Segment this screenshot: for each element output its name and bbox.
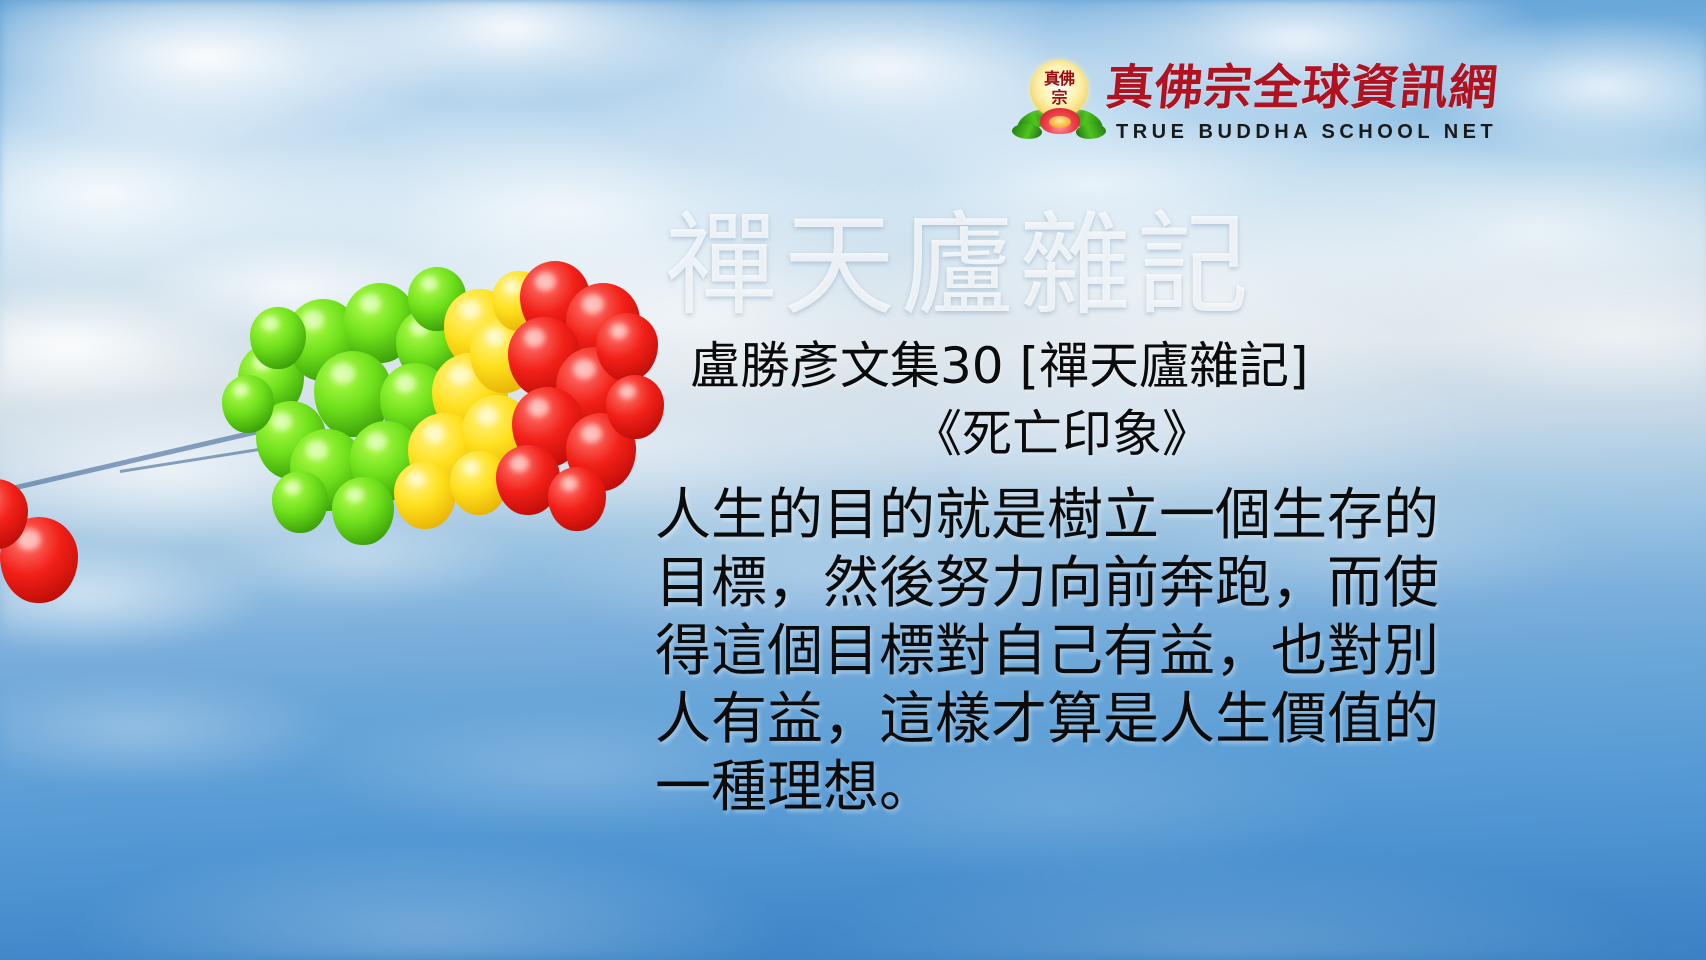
balloon xyxy=(222,375,274,433)
quote-body: 人生的目的就是樹立一個生存的 目標，然後努力向前奔跑，而使 得這個目標對自己有益… xyxy=(655,482,1455,822)
lotus-halo-emblem-icon: 真佛宗 xyxy=(1018,60,1102,152)
balloon xyxy=(596,313,658,381)
title-block: 盧勝彥文集30 [禪天廬雜記] 《死亡印象》 xyxy=(690,336,1450,464)
title-line-secondary: 《死亡印象》 xyxy=(690,404,1450,464)
quote-card: 禪天廬雜記 真佛宗 真佛宗全球資訊網 TRUE BUDDHA SCHOOL NE… xyxy=(0,0,1706,960)
quote-line: 人有益，這樣才算是人生價值的 xyxy=(655,686,1455,754)
balloon xyxy=(548,467,606,531)
lotus-core-icon xyxy=(1049,116,1071,128)
quote-line: 一種理想。 xyxy=(655,754,1455,822)
quote-line: 得這個目標對自己有益，也對別 xyxy=(655,618,1455,686)
logo-chinese-name: 真佛宗全球資訊網 xyxy=(1104,62,1501,114)
balloon-string xyxy=(0,424,283,496)
balloon xyxy=(250,307,306,369)
quote-line: 目標，然後努力向前奔跑，而使 xyxy=(655,550,1455,618)
true-buddha-school-net-logo[interactable]: 真佛宗 真佛宗全球資訊網 TRUE BUDDHA SCHOOL NET xyxy=(1018,58,1438,158)
balloon-cluster xyxy=(0,255,700,585)
logo-english-name: TRUE BUDDHA SCHOOL NET xyxy=(1116,120,1497,144)
emblem-label: 真佛宗 xyxy=(1038,69,1080,109)
balloon xyxy=(606,375,664,439)
quote-line: 人生的目的就是樹立一個生存的 xyxy=(655,482,1455,550)
watermark-text: 禪天廬雜記 xyxy=(665,210,1255,322)
balloon xyxy=(332,477,394,545)
balloon xyxy=(394,461,456,529)
balloon xyxy=(272,471,328,533)
title-line-primary: 盧勝彥文集30 [禪天廬雜記] xyxy=(690,336,1450,396)
